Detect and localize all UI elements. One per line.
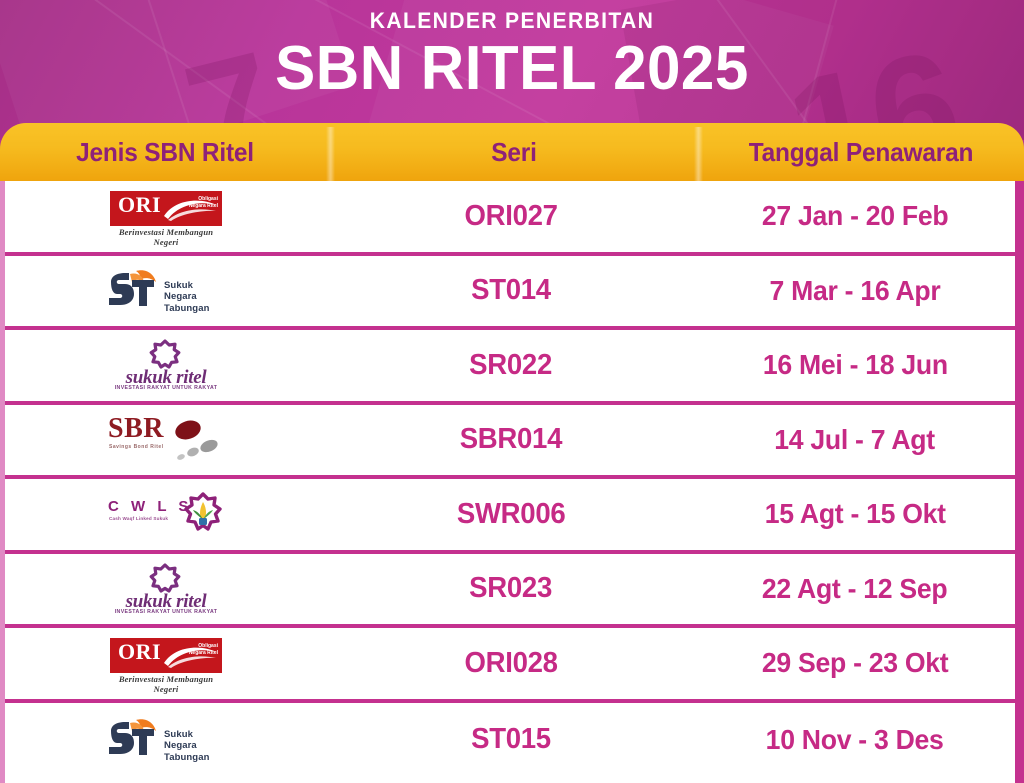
cell-seri: ST014 xyxy=(327,256,695,327)
ori-logo-wordmark: ORI xyxy=(118,194,161,216)
sbr-dots-icon xyxy=(172,419,228,463)
sbr-logo-wrap: SBR Savings Bond Ritel xyxy=(106,415,228,465)
ori-logo-subtext: Obligasi Negara Ritel xyxy=(188,196,218,210)
cwls-tagline: Cash Waqf Linked Sukuk xyxy=(109,516,168,521)
seri-value: SWR006 xyxy=(457,498,566,531)
seri-value: SR023 xyxy=(470,572,553,605)
column-header-jenis: Jenis SBN Ritel xyxy=(10,137,320,168)
cell-tanggal: 10 Nov - 3 Des xyxy=(695,703,1015,778)
st-logo-wrap: Sukuk Negara Tabungan xyxy=(106,717,228,763)
cwls-logo-wrap: C W L S Cash Waqf Linked Sukuk xyxy=(108,491,226,537)
ori-logo: ORI Obligasi Negara Ritel Berinvestasi M… xyxy=(104,636,228,690)
cell-seri: SWR006 xyxy=(327,479,695,550)
tanggal-value: 15 Agt - 15 Okt xyxy=(764,498,945,530)
banner-text-block: KALENDER PENERBITAN SBN RITEL 2025 xyxy=(0,0,1024,102)
cell-jenis: sukuk ritel INVESTASI RAKYAT UNTUK RAKYA… xyxy=(5,554,327,625)
seri-value: ORI028 xyxy=(464,647,557,680)
ori-logo-tagline: Berinvestasi Membangun Negeri xyxy=(110,227,222,247)
banner-title: SBN RITEL 2025 xyxy=(15,36,1008,102)
cell-seri: ORI027 xyxy=(327,181,695,252)
cell-tanggal: 15 Agt - 15 Okt xyxy=(695,479,1015,550)
seri-value: ORI027 xyxy=(464,200,557,233)
cell-seri: SR023 xyxy=(327,554,695,625)
tanggal-value: 14 Jul - 7 Agt xyxy=(775,424,936,456)
table-row: Sukuk Negara Tabungan ST015 10 Nov - 3 D… xyxy=(5,703,1015,778)
table-row: ORI Obligasi Negara Ritel Berinvestasi M… xyxy=(5,181,1015,256)
cell-tanggal: 22 Agt - 12 Sep xyxy=(695,554,1015,625)
seri-value: SR022 xyxy=(470,349,553,382)
table-row: C W L S Cash Waqf Linked Sukuk xyxy=(5,479,1015,554)
table-row: SBR Savings Bond Ritel SBR014 xyxy=(5,405,1015,480)
sukuk-ritel-logo-wrap: sukuk ritel INVESTASI RAKYAT UNTUK RAKYA… xyxy=(104,562,228,616)
tanggal-value: 27 Jan - 20 Feb xyxy=(762,200,948,232)
column-header-seri: Seri xyxy=(341,137,687,168)
cell-jenis: sukuk ritel INVESTASI RAKYAT UNTUK RAKYA… xyxy=(5,330,327,401)
cell-tanggal: 27 Jan - 20 Feb xyxy=(695,181,1015,252)
sukuk-ritel-tagline: INVESTASI RAKYAT UNTUK RAKYAT xyxy=(104,609,228,615)
cell-seri: ST015 xyxy=(327,703,695,778)
sbr-wordmark: SBR xyxy=(108,415,164,443)
cell-tanggal: 16 Mei - 18 Jun xyxy=(695,330,1015,401)
cell-tanggal: 14 Jul - 7 Agt xyxy=(695,405,1015,476)
sbn-schedule-table: Jenis SBN Ritel Seri Tanggal Penawaran O… xyxy=(0,123,1024,783)
tanggal-value: 10 Nov - 3 Des xyxy=(766,724,944,756)
sukuk-tabungan-logo: Sukuk Negara Tabungan xyxy=(104,264,228,318)
cell-jenis: ORI Obligasi Negara Ritel Berinvestasi M… xyxy=(5,181,327,252)
table-header: Jenis SBN Ritel Seri Tanggal Penawaran xyxy=(0,123,1024,181)
sukuk-tabungan-logo: Sukuk Negara Tabungan xyxy=(104,713,228,767)
sbr-tagline: Savings Bond Ritel xyxy=(109,444,164,450)
st-monogram-icon xyxy=(106,268,160,312)
sbn-ritel-calendar-poster: 7 16 KALENDER PENERBITAN SBN RITEL 2025 … xyxy=(0,0,1024,783)
seri-value: SBR014 xyxy=(460,423,562,456)
tanggal-value: 16 Mei - 18 Jun xyxy=(763,349,948,381)
cell-jenis: SBR Savings Bond Ritel xyxy=(5,405,327,476)
cell-jenis: Sukuk Negara Tabungan xyxy=(5,256,327,327)
st-logo-wrap: Sukuk Negara Tabungan xyxy=(106,268,228,314)
cell-jenis: ORI Obligasi Negara Ritel Berinvestasi M… xyxy=(5,628,327,699)
banner-kicker: KALENDER PENERBITAN xyxy=(20,8,1003,34)
poster-header-banner: 7 16 KALENDER PENERBITAN SBN RITEL 2025 xyxy=(0,0,1024,140)
column-header-tanggal: Tanggal Penawaran xyxy=(708,137,1014,168)
cell-tanggal: 7 Mar - 16 Apr xyxy=(695,256,1015,327)
tanggal-value: 29 Sep - 23 Okt xyxy=(762,647,948,679)
sbr-logo: SBR Savings Bond Ritel xyxy=(104,413,228,467)
cwls-logo: C W L S Cash Waqf Linked Sukuk xyxy=(104,487,228,541)
table-row: sukuk ritel INVESTASI RAKYAT UNTUK RAKYA… xyxy=(5,330,1015,405)
sukuk-ritel-logo: sukuk ritel INVESTASI RAKYAT UNTUK RAKYA… xyxy=(104,338,228,392)
ori-logo-wordmark: ORI xyxy=(118,641,161,663)
cwls-star-emblem-icon xyxy=(182,492,224,532)
seri-value: ST015 xyxy=(471,723,551,756)
cell-jenis: Sukuk Negara Tabungan xyxy=(5,703,327,778)
tanggal-value: 7 Mar - 16 Apr xyxy=(770,275,941,307)
ori-logo-plate: ORI Obligasi Negara Ritel xyxy=(110,638,222,673)
cell-jenis: C W L S Cash Waqf Linked Sukuk xyxy=(5,479,327,550)
cwls-wordmark: C W L S xyxy=(108,499,192,514)
table-body: ORI Obligasi Negara Ritel Berinvestasi M… xyxy=(0,181,1024,783)
st-monogram-icon xyxy=(106,717,160,761)
eight-point-star-icon xyxy=(148,339,182,369)
ori-logo-subtext: Obligasi Negara Ritel xyxy=(188,643,218,657)
ori-logo: ORI Obligasi Negara Ritel Berinvestasi M… xyxy=(104,189,228,243)
table-header-row: Jenis SBN Ritel Seri Tanggal Penawaran xyxy=(0,123,1024,181)
eight-point-star-icon xyxy=(148,563,182,593)
sukuk-ritel-logo: sukuk ritel INVESTASI RAKYAT UNTUK RAKYA… xyxy=(104,562,228,616)
table-row: sukuk ritel INVESTASI RAKYAT UNTUK RAKYA… xyxy=(5,554,1015,629)
seri-value: ST014 xyxy=(471,274,551,307)
sukuk-ritel-logo-wrap: sukuk ritel INVESTASI RAKYAT UNTUK RAKYA… xyxy=(104,338,228,392)
cell-tanggal: 29 Sep - 23 Okt xyxy=(695,628,1015,699)
st-logo-subtext: Sukuk Negara Tabungan xyxy=(164,729,228,764)
table-row: Sukuk Negara Tabungan ST014 7 Mar - 16 A… xyxy=(5,256,1015,331)
cell-seri: ORI028 xyxy=(327,628,695,699)
sukuk-ritel-tagline: INVESTASI RAKYAT UNTUK RAKYAT xyxy=(104,385,228,391)
st-logo-subtext: Sukuk Negara Tabungan xyxy=(164,280,228,315)
table-row: ORI Obligasi Negara Ritel Berinvestasi M… xyxy=(5,628,1015,703)
ori-logo-tagline: Berinvestasi Membangun Negeri xyxy=(110,674,222,694)
cell-seri: SBR014 xyxy=(327,405,695,476)
cell-seri: SR022 xyxy=(327,330,695,401)
tanggal-value: 22 Agt - 12 Sep xyxy=(762,573,947,605)
ori-logo-plate: ORI Obligasi Negara Ritel xyxy=(110,191,222,226)
